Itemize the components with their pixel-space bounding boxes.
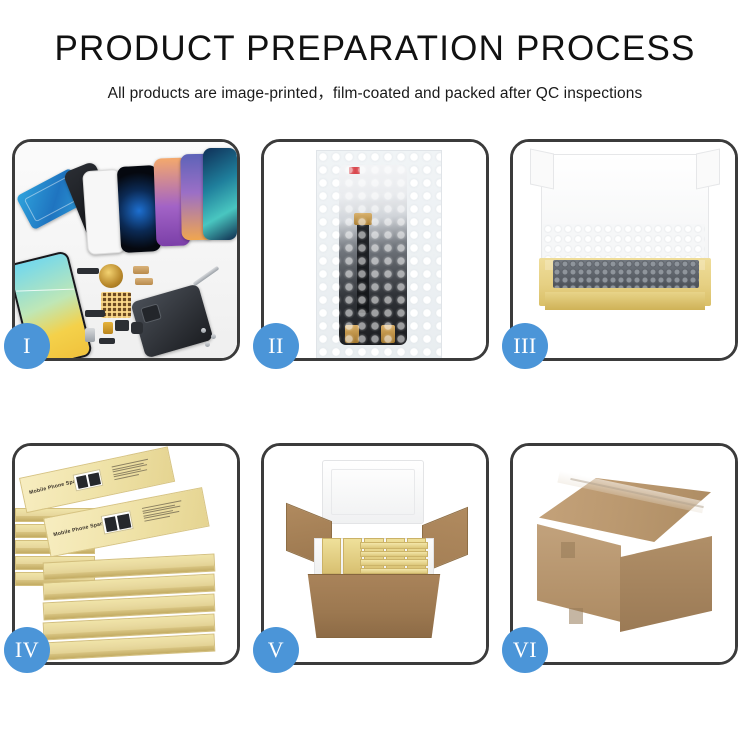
speaker-coil-part (99, 264, 123, 288)
lcd-screen (339, 165, 407, 345)
step-badge-5: V (253, 627, 299, 673)
small-part-8 (85, 328, 95, 342)
connector-right (381, 325, 395, 343)
small-part-7 (131, 322, 143, 334)
step-badge-3: III (502, 323, 548, 369)
small-part-4 (85, 310, 105, 317)
connector-left (345, 325, 359, 343)
step-badge-6: VI (502, 627, 548, 673)
small-part-6 (115, 320, 129, 331)
step-3-image (513, 142, 735, 358)
header: PRODUCT PREPARATION PROCESS All products… (0, 0, 750, 103)
tweezers (193, 266, 220, 286)
step-badge-2: II (253, 323, 299, 369)
box-thumb-b (101, 510, 134, 534)
small-part-2 (133, 266, 149, 274)
carton-patch-top (561, 542, 575, 558)
small-part-9 (99, 338, 115, 344)
small-part-5 (103, 322, 113, 334)
step-1-image (15, 142, 237, 358)
box-spec-lines-a (112, 458, 154, 480)
shipping-carton-body (302, 574, 446, 638)
sealed-carton-scene (513, 446, 735, 662)
small-part-1 (77, 268, 99, 274)
bubble-wrap-bag (316, 150, 442, 358)
bubble-wrapped-screen-scene (264, 142, 486, 358)
step-4-image: Mobile Phone Spare Parts Mobile Phone Sp… (15, 446, 237, 662)
page-subtitle: All products are image-printed，film-coat… (0, 81, 750, 103)
small-part-3 (135, 278, 153, 285)
page-title: PRODUCT PREPARATION PROCESS (0, 30, 750, 69)
step-2-image (264, 142, 486, 358)
red-label-sticker (349, 167, 360, 174)
steps-grid: I II (12, 139, 738, 665)
step-panel-4[interactable]: Mobile Phone Spare Parts Mobile Phone Sp… (12, 443, 240, 665)
bubble-wrapped-contents (553, 260, 699, 288)
phones-and-parts-scene (15, 142, 237, 358)
step-panel-3[interactable]: III (510, 139, 738, 361)
step-panel-1[interactable]: I (12, 139, 240, 361)
carton-patch-bottom (569, 608, 583, 624)
box-spec-lines-b (142, 500, 188, 522)
step-panel-6[interactable]: VI (510, 443, 738, 665)
screw-1 (201, 328, 206, 333)
carton-packing-scene (264, 446, 486, 662)
stacked-retail-boxes-scene: Mobile Phone Spare Parts Mobile Phone Sp… (15, 446, 237, 662)
step-panel-5[interactable]: V (261, 443, 489, 665)
screw-3 (205, 342, 210, 347)
carton-face-right (620, 536, 712, 632)
step-6-image (513, 446, 735, 662)
product-preparation-infographic: PRODUCT PREPARATION PROCESS All products… (0, 0, 750, 750)
open-inner-box-scene (513, 142, 735, 358)
kraft-tray-front (545, 292, 705, 310)
box-thumb-a (73, 469, 104, 491)
foam-lid (322, 460, 424, 524)
flex-cable (357, 221, 369, 313)
screw-2 (211, 334, 216, 339)
step-panel-2[interactable]: II (261, 139, 489, 361)
step-badge-4: IV (4, 627, 50, 673)
step-5-image (264, 446, 486, 662)
teal-wave-screen (203, 148, 237, 240)
connector-grid-part (101, 292, 131, 318)
step-badge-1: I (4, 323, 50, 369)
packed-boxes-column (360, 542, 428, 574)
phone-back-housing (130, 283, 213, 358)
